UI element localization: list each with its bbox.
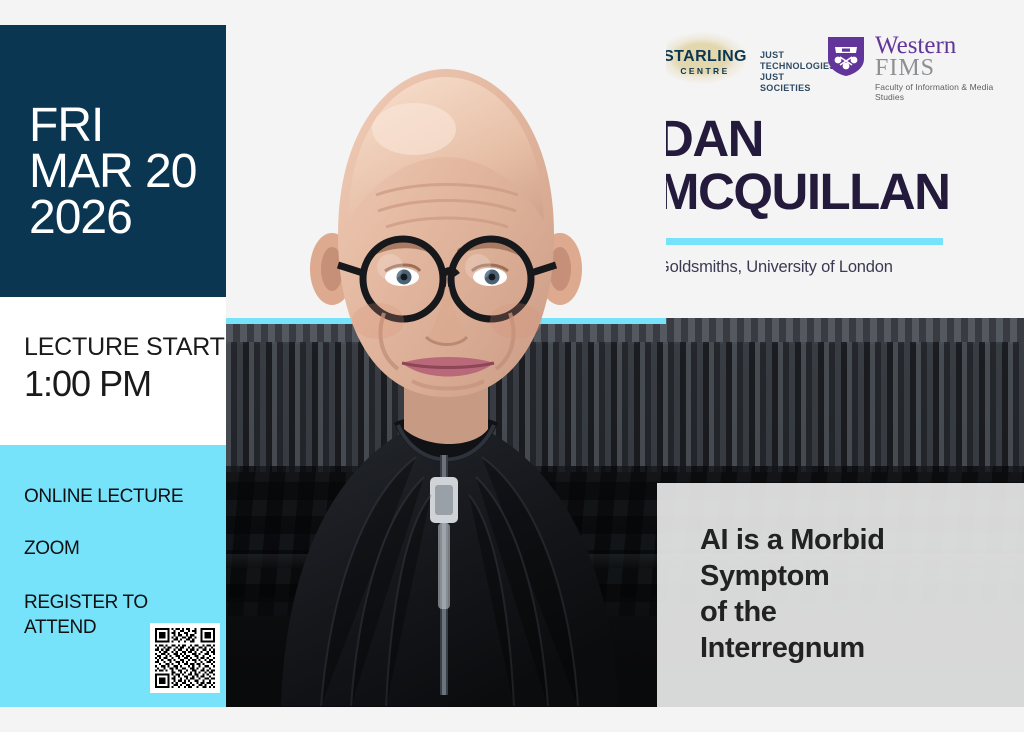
- starling-logo-name: STARLING: [660, 48, 750, 66]
- qr-code-icon: [155, 628, 215, 688]
- talk-title: AI is a Morbid Symptom of the Interregnu…: [700, 522, 1000, 666]
- registration-qr-code[interactable]: [150, 623, 220, 693]
- shield-icon: [825, 35, 867, 77]
- lecture-platform: ZOOM: [24, 538, 79, 560]
- event-date-day: FRI: [29, 103, 196, 149]
- name-underline-rule: [657, 238, 943, 245]
- event-date-block: FRI MAR 20 2026: [0, 25, 226, 297]
- talk-title-line4: Interregnum: [700, 630, 1000, 666]
- event-date-month-day: MAR 20: [29, 149, 196, 195]
- speaker-portrait: [226, 25, 666, 706]
- lecture-format: ONLINE LECTURE: [24, 486, 183, 508]
- lecture-start-label: LECTURE START: [24, 333, 225, 362]
- event-date-year: 2026: [29, 195, 196, 241]
- talk-title-line1: AI is a Morbid: [700, 522, 1000, 558]
- bottom-margin: [0, 707, 1024, 732]
- left-info-column: FRI MAR 20 2026 LECTURE START 1:00 PM ON…: [0, 0, 226, 707]
- starling-centre-logo: STARLING CENTRE JUST TECHNOLOGIES JUST S…: [656, 32, 836, 84]
- western-faculty-line: Faculty of Information & Media Studies: [875, 82, 1015, 102]
- speaker-affiliation: Goldsmiths, University of London: [657, 258, 893, 277]
- speaker-last-name: MCQUILLAN: [657, 165, 1017, 218]
- starling-logo-sub: CENTRE: [660, 66, 750, 76]
- talk-title-panel: AI is a Morbid Symptom of the Interregnu…: [657, 483, 1024, 707]
- event-date: FRI MAR 20 2026: [29, 103, 196, 241]
- lecture-start-time: 1:00 PM: [24, 363, 151, 405]
- talk-title-line3: of the: [700, 594, 1000, 630]
- event-poster: STARLING CENTRE JUST TECHNOLOGIES JUST S…: [0, 0, 1024, 732]
- speaker-name: DAN MCQUILLAN: [657, 112, 1017, 218]
- lecture-time-block: LECTURE START 1:00 PM: [0, 297, 226, 445]
- western-fims-logo: Western FIMS Faculty of Information & Me…: [825, 33, 1015, 88]
- speaker-first-name: DAN: [657, 112, 1017, 165]
- western-unit-name: FIMS: [875, 55, 935, 81]
- talk-title-line2: Symptom: [700, 558, 1000, 594]
- portrait-illustration: [226, 25, 666, 706]
